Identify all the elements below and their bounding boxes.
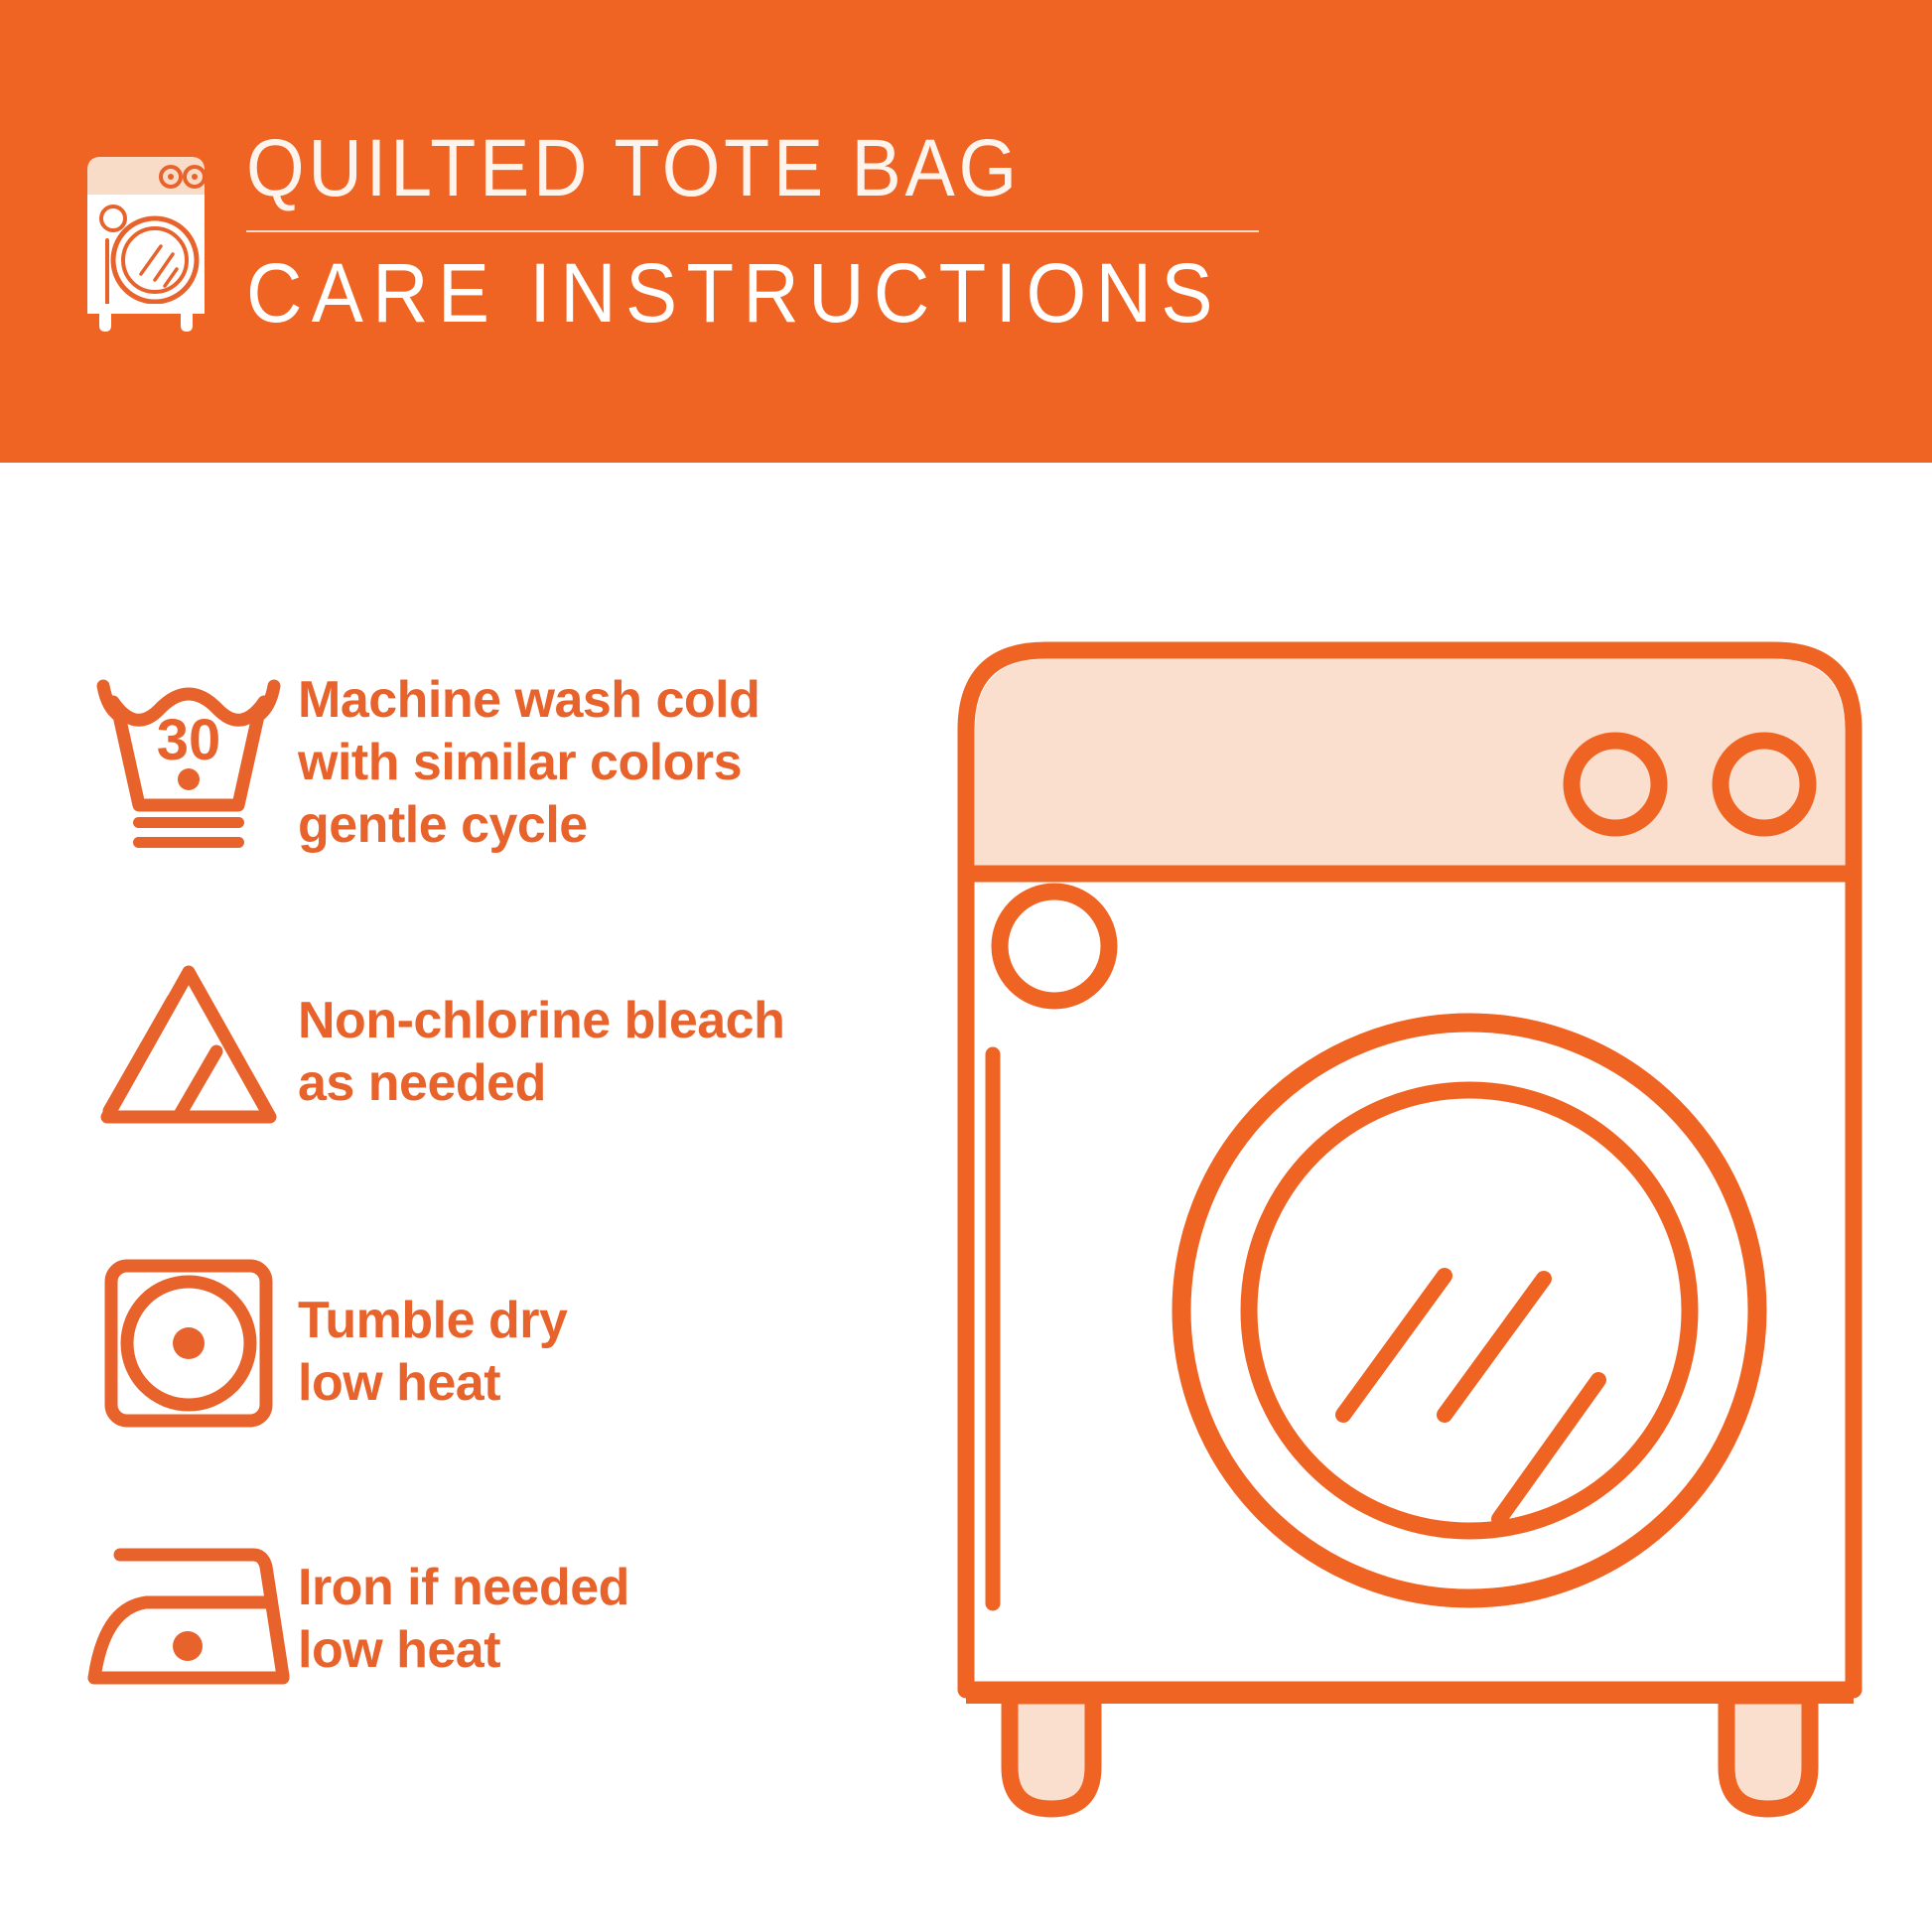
- label-line: as needed: [298, 1052, 933, 1115]
- label-line: low heat: [298, 1352, 933, 1415]
- care-instruction-item: Non-chlorine bleach as needed: [79, 946, 933, 1145]
- label-line: gentle cycle: [298, 794, 933, 857]
- care-instruction-item: Iron if needed low heat: [79, 1517, 933, 1716]
- care-instruction-label: Iron if needed low heat: [298, 1517, 933, 1682]
- foot-right: [1726, 1696, 1810, 1809]
- label-line: Iron if needed: [298, 1557, 933, 1619]
- header-content: QUILTED TOTE BAG CARE INSTRUCTIONS: [77, 121, 1318, 349]
- washing-machine-icon: [77, 135, 214, 334]
- page-subtitle: CARE INSTRUCTIONS: [246, 246, 1243, 340]
- care-instruction-label: Non-chlorine bleach as needed: [298, 946, 933, 1115]
- care-instruction-item: 30 Machine wash cold with similar colors…: [79, 663, 933, 862]
- page-title: QUILTED TOTE BAG: [246, 123, 1233, 214]
- care-instruction-item: Tumble dry low heat: [79, 1244, 933, 1443]
- label-line: Tumble dry: [298, 1290, 933, 1352]
- label-line: Machine wash cold: [298, 669, 933, 732]
- knob-right: [1721, 741, 1808, 828]
- non-chlorine-bleach-triangle-icon: [79, 946, 298, 1145]
- tumble-dry-low-icon: [79, 1244, 298, 1443]
- header-title-block: QUILTED TOTE BAG CARE INSTRUCTIONS: [246, 121, 1318, 340]
- label-line: Non-chlorine bleach: [298, 990, 933, 1052]
- page-header: QUILTED TOTE BAG CARE INSTRUCTIONS: [0, 0, 1932, 463]
- label-line: with similar colors: [298, 732, 933, 794]
- svg-text:30: 30: [157, 708, 221, 772]
- front-load-washing-machine-illustration: [948, 625, 1871, 1847]
- care-instruction-label: Machine wash cold with similar colors ge…: [298, 663, 933, 857]
- title-divider: [246, 230, 1259, 232]
- care-instruction-label: Tumble dry low heat: [298, 1244, 933, 1415]
- knob-left: [1572, 741, 1659, 828]
- label-line: low heat: [298, 1619, 933, 1682]
- iron-low-heat-icon: [79, 1517, 298, 1716]
- wash-tub-30-gentle-icon: 30: [79, 663, 298, 862]
- foot-left: [1010, 1696, 1093, 1809]
